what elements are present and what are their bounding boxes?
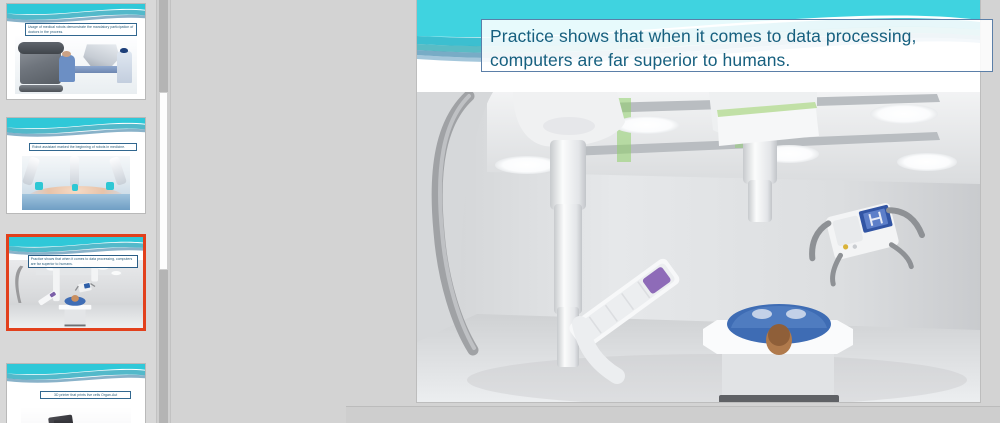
thumbnail-pane-scrollbar[interactable] [156,0,171,423]
slide-title-line-1: Practice shows that when it comes to dat… [490,24,984,48]
canvas-bottom-strip [346,407,1000,423]
thumbnail-3-image [9,260,143,328]
thumbnail-slide-1-wrapper[interactable]: Usage of medical robots demonstrate the … [6,3,146,100]
thumbnail-slide-3[interactable]: Practice shows that when it comes to dat… [6,234,146,331]
slide-canvas-area[interactable]: Practice shows that when it comes to dat… [173,0,1000,423]
thumbnail-2-image [22,156,130,210]
thumbnail-slide-4[interactable]: 3D printer that prints live cells Organ-… [6,363,146,423]
thumbnail-4-image [21,407,131,423]
slide-banner-wave-4 [7,364,145,389]
thumbnail-slide-2[interactable]: Robot assistant marked the beginning of … [6,117,146,214]
thumbnail-slide-1[interactable]: Usage of medical robots demonstrate the … [6,3,146,100]
thumbnail-4-title: 3D printer that prints live cells Organ-… [40,391,131,400]
slide-image-operating-room[interactable] [417,92,980,402]
thumbnail-slide-3-wrapper[interactable]: Practice shows that when it comes to dat… [6,234,146,331]
thumbnail-2-title: Robot assistant marked the beginning of … [29,143,137,152]
slide-title-textbox[interactable]: Practice shows that when it comes to dat… [481,19,993,72]
slide-banner-wave-2 [7,118,145,143]
thumbnail-slide-4-wrapper[interactable]: 3D printer that prints live cells Organ-… [6,363,146,423]
active-slide[interactable]: Practice shows that when it comes to dat… [417,0,980,402]
slide-thumbnail-pane[interactable]: Usage of medical robots demonstrate the … [0,0,156,423]
presentation-editor-window: Usage of medical robots demonstrate the … [0,0,1000,423]
scrollbar-thumb[interactable] [159,92,168,270]
slide-title-line-2: computers are far superior to humans. [490,48,984,72]
thumbnail-1-image [15,36,136,94]
thumbnail-slide-2-wrapper[interactable]: Robot assistant marked the beginning of … [6,117,146,214]
thumbnail-3-title: Practice shows that when it comes to dat… [28,255,138,268]
thumbnail-1-title: Usage of medical robots demonstrate the … [25,23,137,36]
